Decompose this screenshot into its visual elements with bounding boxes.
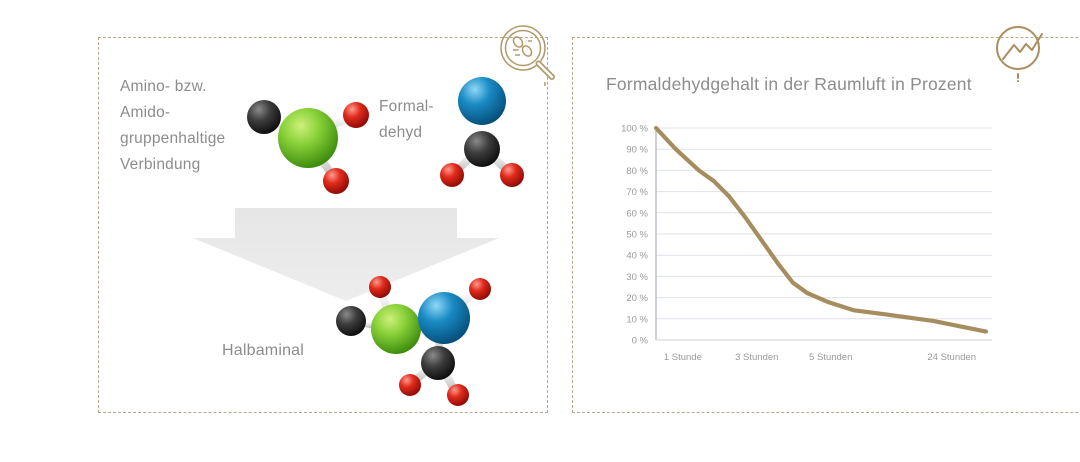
y-tick-label: 90 % xyxy=(626,145,648,156)
red-atom xyxy=(447,384,469,406)
red-atom xyxy=(323,168,349,194)
y-tick-label: 80 % xyxy=(626,166,648,177)
y-tick-label: 10 % xyxy=(626,314,648,325)
y-tick-label: 20 % xyxy=(626,293,648,304)
line-chart: 100 %90 %80 %70 %60 %50 %40 %30 %20 %10 … xyxy=(600,118,1000,380)
blue-atom xyxy=(418,292,470,344)
line-chart-circle-icon xyxy=(990,18,1054,82)
red-atom xyxy=(500,163,524,187)
black-atom xyxy=(336,306,366,336)
chart-x-axis-labels: 1 Stunde3 Stunden5 Stunden24 Stunden xyxy=(664,352,976,363)
amino-compound-label: Amino- bzw. Amido- gruppenhaltige Verbin… xyxy=(120,74,290,178)
y-tick-label: 30 % xyxy=(626,272,648,283)
y-tick-label: 40 % xyxy=(626,251,648,262)
x-tick-label: 1 Stunde xyxy=(664,352,702,363)
y-tick-label: 60 % xyxy=(626,208,648,219)
y-tick-label: 70 % xyxy=(626,187,648,198)
black-atom xyxy=(421,346,455,380)
y-tick-label: 0 % xyxy=(632,336,649,347)
red-atom xyxy=(343,102,369,128)
chart-svg: 100 %90 %80 %70 %60 %50 %40 %30 %20 %10 … xyxy=(600,118,1000,380)
chart-gridlines xyxy=(656,128,992,340)
red-atom xyxy=(440,163,464,187)
red-atom xyxy=(369,276,391,298)
y-tick-label: 100 % xyxy=(621,124,648,135)
chart-data-line xyxy=(656,128,986,332)
x-tick-label: 24 Stunden xyxy=(927,352,976,363)
red-atom xyxy=(469,278,491,300)
green-atom xyxy=(371,304,421,354)
chart-y-axis-labels: 100 %90 %80 %70 %60 %50 %40 %30 %20 %10 … xyxy=(621,124,648,347)
magnifier-icon-svg xyxy=(497,22,561,86)
chart-icon-svg xyxy=(990,18,1054,82)
x-tick-label: 3 Stunden xyxy=(735,352,778,363)
formaldehyde-label: Formal- dehyd xyxy=(379,94,474,146)
x-tick-label: 5 Stunden xyxy=(809,352,852,363)
screenshot-canvas: Amino- bzw. Amido- gruppenhaltige Verbin… xyxy=(0,0,1080,462)
y-tick-label: 50 % xyxy=(626,230,648,241)
red-atom xyxy=(399,374,421,396)
chart-title: Formaldehydgehalt in der Raumluft in Pro… xyxy=(606,74,972,95)
halbaminal-label: Halbaminal xyxy=(222,338,362,364)
magnifier-molecule-icon xyxy=(497,22,561,86)
